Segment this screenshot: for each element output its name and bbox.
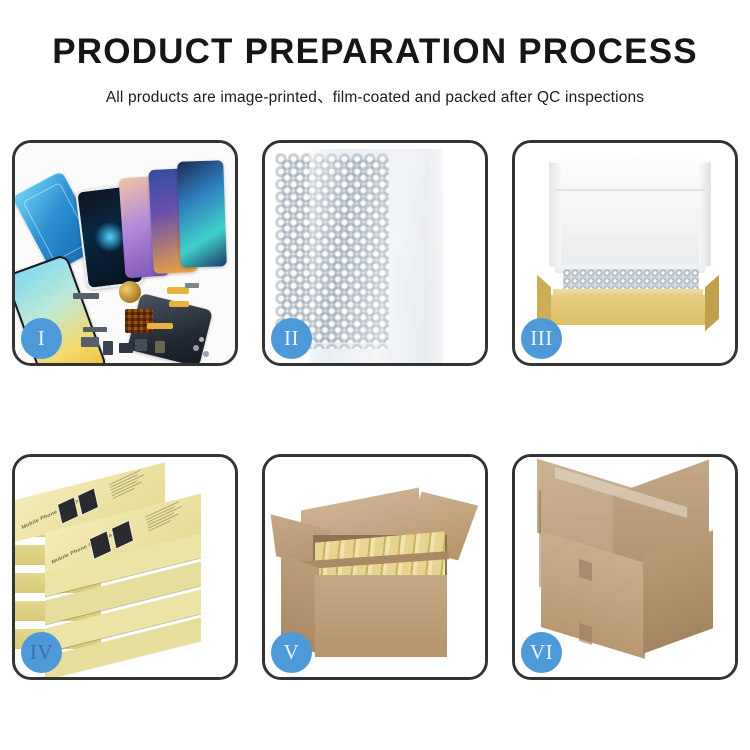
flex-cable-icon (167, 287, 189, 294)
box-label-spec-lines (109, 468, 148, 501)
small-part-icon (103, 341, 113, 355)
small-part-icon (135, 339, 147, 351)
page-title: PRODUCT PREPARATION PROCESS (0, 34, 750, 69)
carton-hand-hole (579, 559, 592, 581)
box-lid-crease (555, 189, 705, 191)
step-panel-3: III (512, 140, 738, 366)
spare-components-group (73, 279, 223, 363)
step-panel-2: II (262, 140, 488, 366)
steps-grid: I II III (12, 140, 738, 680)
step-panel-4: Mobile Phone Spare Parts Mobile Phone Sp… (12, 454, 238, 680)
carton-seam (539, 491, 541, 588)
small-part-icon (119, 343, 133, 353)
flex-cable-icon (169, 301, 189, 307)
speaker-coil-icon (119, 281, 141, 303)
step-badge-6: VI (521, 632, 562, 673)
step-badge-1: I (21, 318, 62, 359)
kraft-box-front (549, 295, 707, 325)
step-badge-3: III (521, 318, 562, 359)
box-label-thumbnail (111, 520, 134, 550)
chip-grid-icon (125, 309, 153, 333)
product-preparation-infographic: PRODUCT PREPARATION PROCESS All products… (0, 0, 750, 750)
flex-cable-icon (147, 323, 173, 329)
connector-icon (73, 293, 99, 299)
small-part-icon (83, 327, 107, 332)
box-label-thumbnail (77, 487, 99, 516)
screw-icon (203, 351, 209, 357)
plastic-sheen-overlay (309, 149, 443, 363)
step-panel-6: VI (512, 454, 738, 680)
step-badge-5: V (271, 632, 312, 673)
small-part-icon (155, 341, 165, 353)
step-panel-5: V (262, 454, 488, 680)
page-subtitle: All products are image-printed、film-coat… (0, 85, 750, 107)
header: PRODUCT PREPARATION PROCESS All products… (0, 0, 750, 107)
small-part-icon (185, 283, 199, 288)
box-lid-icon (555, 157, 705, 273)
screw-icon (193, 345, 199, 351)
step-badge-4: IV (21, 632, 62, 673)
step-badge-2: II (271, 318, 312, 359)
carton-hand-hole (579, 623, 592, 645)
carton-front-face (315, 575, 447, 657)
small-part-icon (81, 337, 99, 347)
step-panel-1: I (12, 140, 238, 366)
screw-icon (199, 337, 204, 342)
phone-screen-teal-icon (177, 160, 227, 268)
